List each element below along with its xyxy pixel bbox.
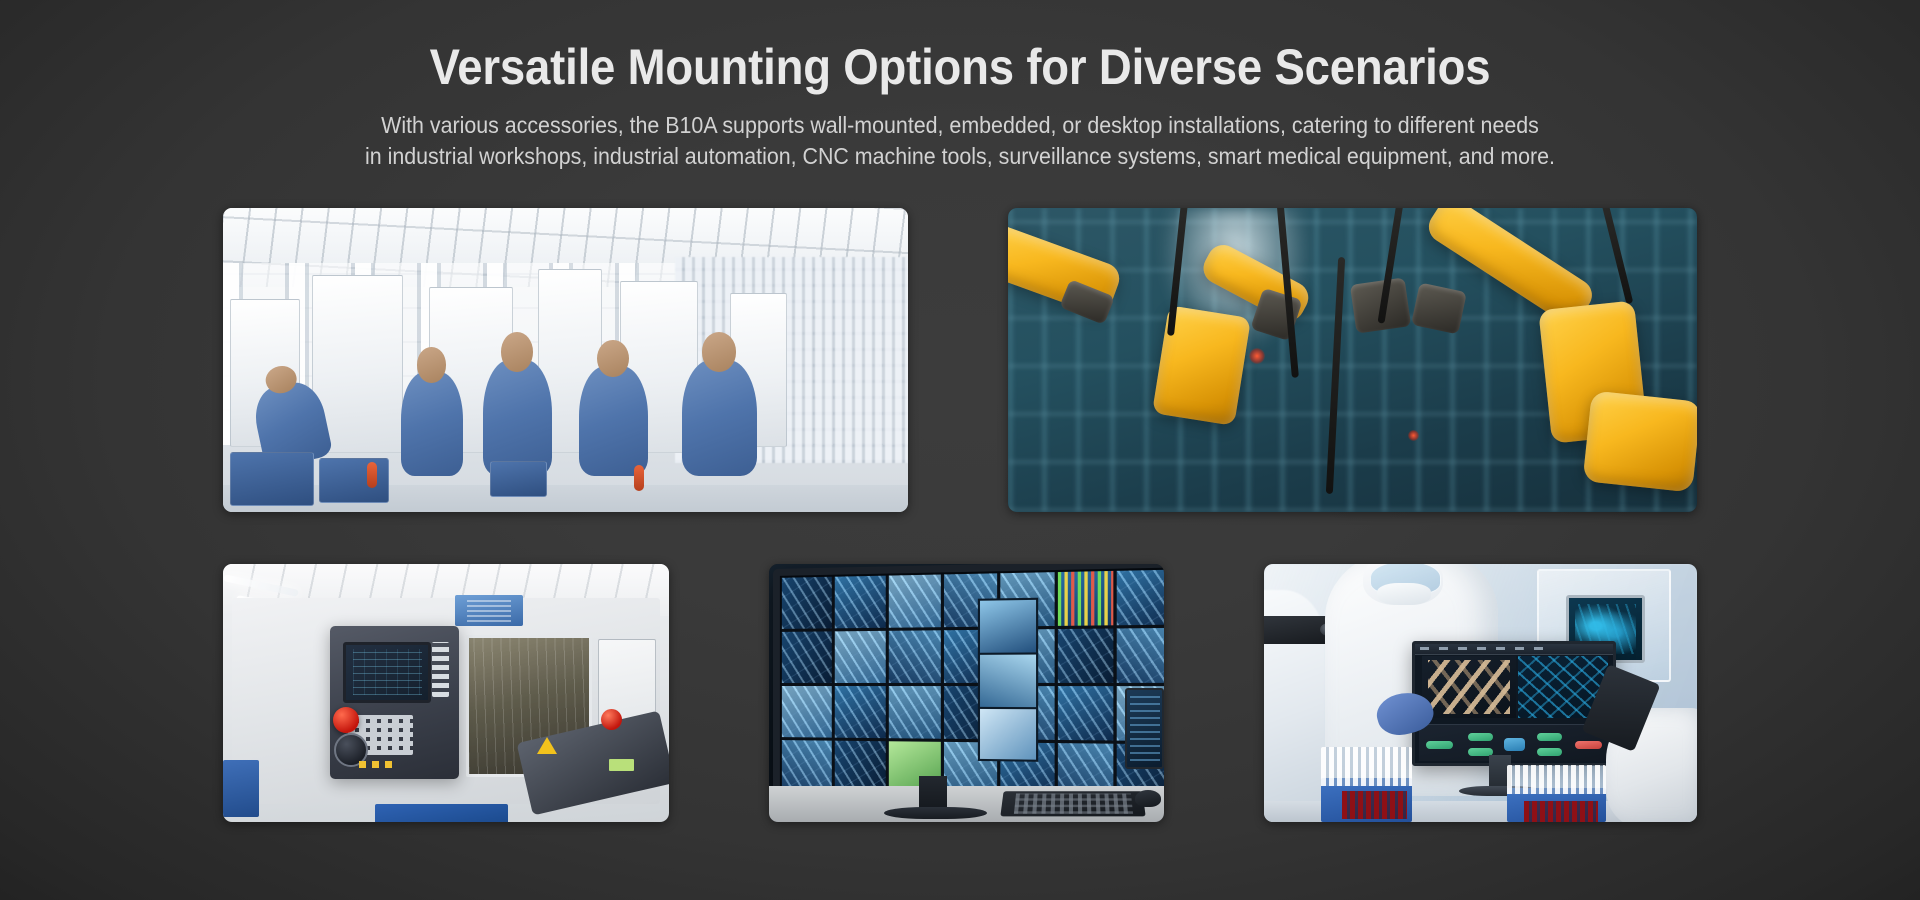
industrial-workshop-photo bbox=[223, 208, 908, 512]
page-root: Versatile Mounting Options for Diverse S… bbox=[0, 0, 1920, 900]
surveillance-room-photo bbox=[769, 564, 1165, 822]
cctv-feed-cell bbox=[782, 686, 832, 738]
cnc-blue-chiller-unit bbox=[455, 595, 524, 626]
workflow-node bbox=[1468, 733, 1493, 741]
cctv-feed-cell bbox=[835, 631, 886, 683]
workflow-node bbox=[1575, 741, 1602, 749]
gallery-row-bottom bbox=[183, 548, 1737, 838]
cctv-feed-cell bbox=[889, 630, 941, 683]
medical-lab-photo bbox=[1264, 564, 1697, 822]
cnc-control-panel bbox=[330, 626, 458, 779]
cctv-focus-window bbox=[978, 707, 1038, 762]
analysis-software-menubar bbox=[1415, 644, 1614, 654]
gallery-image-surveillance-systems bbox=[769, 564, 1165, 822]
secondary-display bbox=[1125, 688, 1165, 769]
factory-worker bbox=[401, 372, 463, 475]
cctv-analytics-cell bbox=[1058, 571, 1113, 626]
cctv-focus-window bbox=[978, 598, 1038, 657]
scenario-image-gallery bbox=[183, 192, 1737, 838]
cctv-feed-cell bbox=[782, 577, 832, 629]
test-tubes bbox=[1321, 747, 1412, 786]
workflow-node bbox=[1426, 741, 1453, 749]
workflow-node bbox=[1537, 733, 1562, 741]
hazard-warning-icon bbox=[537, 737, 557, 754]
monitor-base bbox=[884, 807, 987, 820]
cctv-feed-cell bbox=[835, 576, 886, 629]
blue-workshop-cart bbox=[223, 760, 259, 817]
cctv-feed-cell bbox=[1116, 570, 1164, 626]
machine-label bbox=[609, 759, 635, 771]
factory-parts-bin bbox=[230, 452, 314, 506]
cnc-display-screen bbox=[343, 642, 431, 703]
cnc-machine-photo bbox=[223, 564, 669, 822]
cctv-feed-grid bbox=[782, 570, 1165, 799]
cctv-feed-cell bbox=[1058, 686, 1113, 740]
lab-analysis-monitor bbox=[1412, 641, 1617, 766]
face-mask bbox=[1377, 583, 1431, 605]
gallery-image-industrial-workshop bbox=[223, 208, 908, 512]
subtitle-line-1: With various accessories, the B10A suppo… bbox=[67, 110, 1853, 141]
page-subtitle: With various accessories, the B10A suppo… bbox=[67, 98, 1853, 172]
welding-spark bbox=[1249, 348, 1265, 364]
gallery-image-industrial-automation bbox=[1008, 208, 1697, 512]
cctv-feed-cell bbox=[782, 631, 832, 683]
subtitle-line-2: in industrial workshops, industrial auto… bbox=[67, 141, 1853, 172]
industrial-automation-photo bbox=[1008, 208, 1697, 512]
blood-sample-vials bbox=[1524, 801, 1598, 822]
cctv-feed-cell bbox=[782, 740, 832, 792]
keyboard bbox=[1001, 792, 1147, 817]
cnc-machine-body bbox=[232, 598, 660, 804]
factory-parts-bin bbox=[319, 458, 390, 503]
factory-worker bbox=[579, 366, 648, 475]
cctv-feed-cell bbox=[1058, 629, 1113, 683]
workflow-diagram-panel bbox=[1419, 724, 1610, 761]
conveyor-stop-button bbox=[601, 709, 622, 730]
cctv-feed-cell bbox=[889, 575, 941, 628]
cctv-feed-cell bbox=[889, 686, 941, 739]
welding-spark bbox=[1408, 430, 1419, 441]
workflow-node bbox=[1504, 738, 1525, 752]
factory-red-handle bbox=[367, 462, 377, 488]
gallery-row-top bbox=[183, 192, 1737, 528]
robot-arm bbox=[1582, 391, 1697, 493]
cnc-soft-keys bbox=[432, 642, 449, 697]
cctv-monitor bbox=[773, 564, 1165, 809]
workflow-node bbox=[1537, 748, 1562, 756]
mouse bbox=[1135, 790, 1161, 807]
robot-arm bbox=[1152, 306, 1251, 427]
page-title: Versatile Mounting Options for Diverse S… bbox=[86, 0, 1833, 98]
blue-parts-tray bbox=[375, 804, 509, 822]
factory-parts-bin bbox=[490, 461, 547, 496]
gallery-image-smart-medical-equipment bbox=[1264, 564, 1697, 822]
factory-worker bbox=[682, 360, 757, 476]
cnc-indicator-lights bbox=[359, 761, 392, 768]
cctv-feed-cell bbox=[835, 686, 886, 738]
page-header: Versatile Mounting Options for Diverse S… bbox=[0, 0, 1920, 172]
blood-sample-vials bbox=[1342, 791, 1407, 819]
gallery-image-cnc-machine-tools bbox=[223, 564, 669, 822]
cctv-feed-cell bbox=[1116, 628, 1164, 683]
factory-red-handle bbox=[634, 465, 644, 491]
factory-worker bbox=[483, 360, 552, 476]
test-tubes bbox=[1507, 765, 1606, 793]
dna-model-viewport bbox=[1422, 656, 1516, 718]
